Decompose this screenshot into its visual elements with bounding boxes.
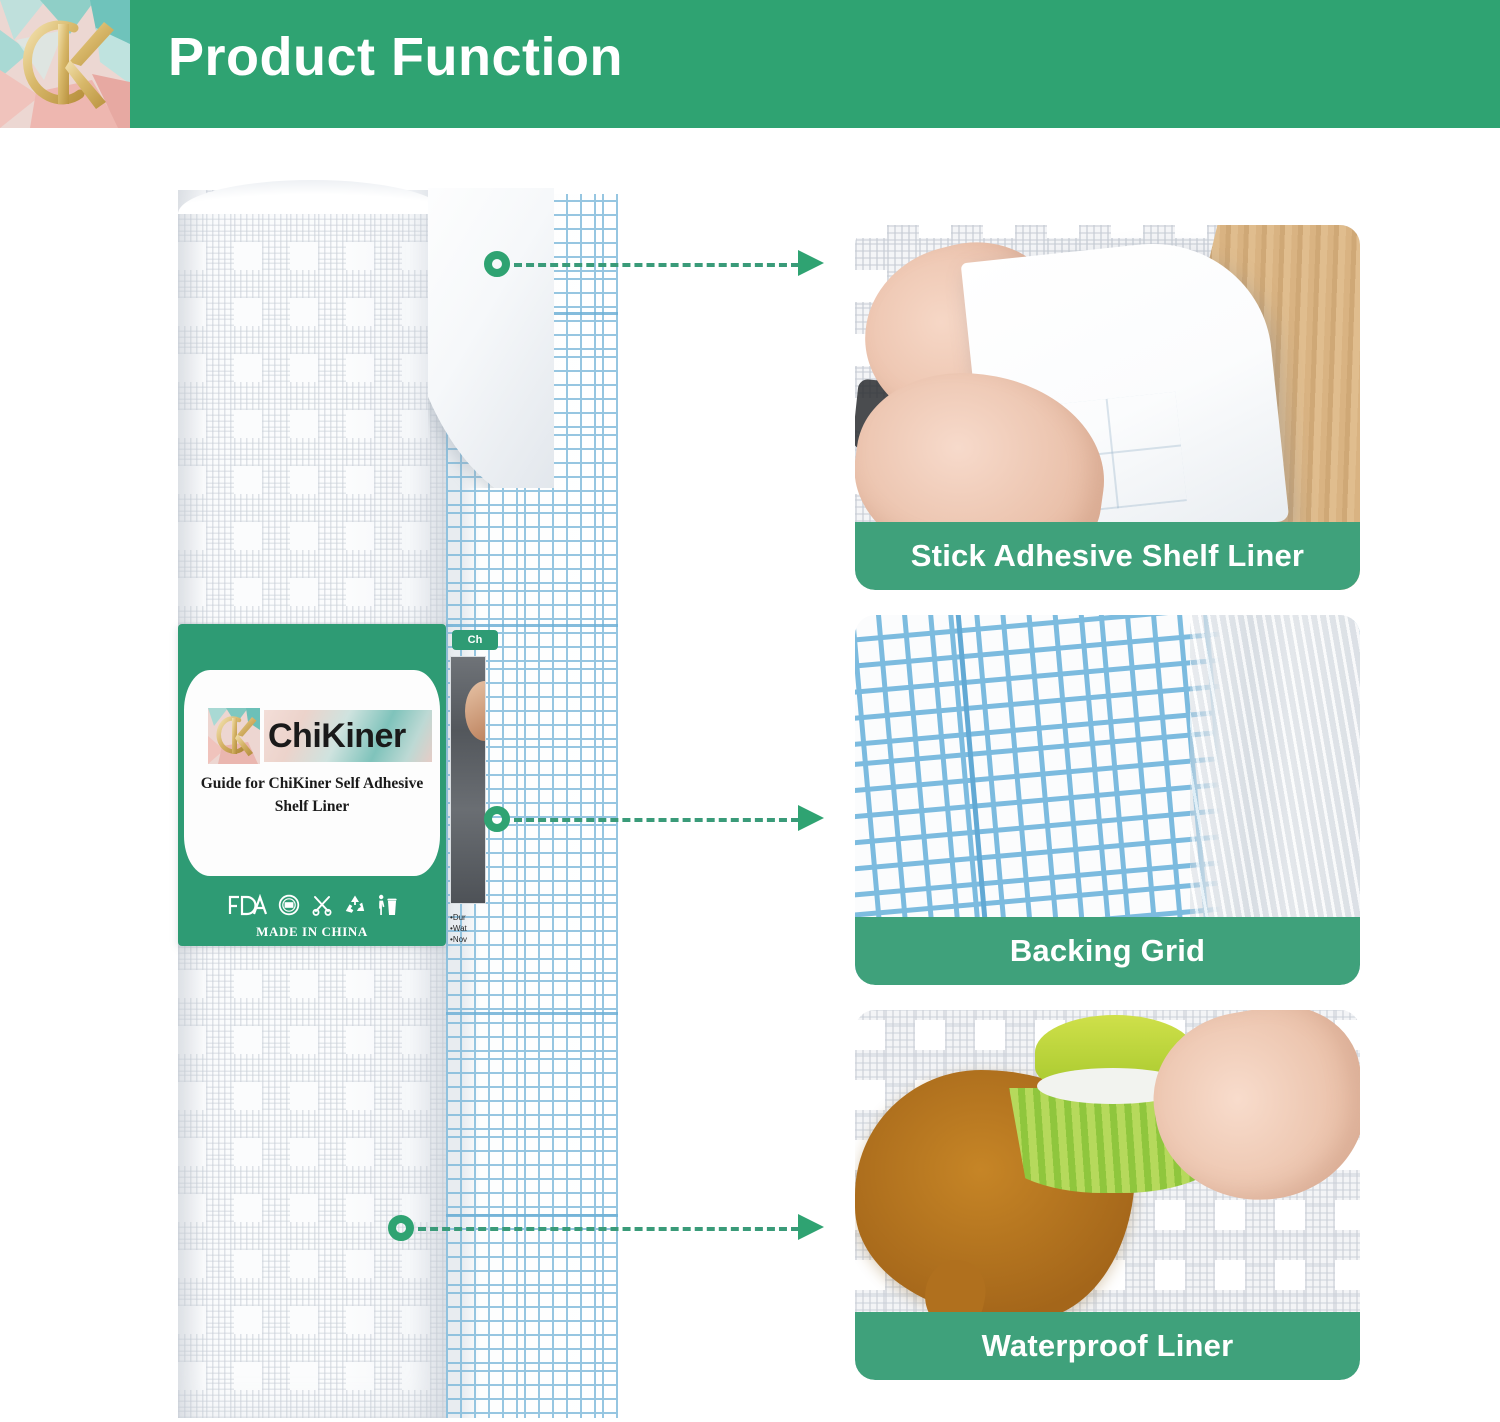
label-origin: MADE IN CHINA (178, 924, 446, 940)
arrow-right-icon (798, 250, 824, 276)
label-subtitle-line1: Guide for ChiKiner Self Adhesive (192, 772, 432, 795)
feature-card-waterproof[interactable]: Waterproof Liner (855, 1010, 1360, 1380)
roll-top-edge (178, 180, 446, 214)
connector-to-waterproof (388, 1207, 834, 1247)
secondary-label-photo (450, 656, 486, 904)
dashed-line (514, 818, 799, 822)
dashed-line (418, 1227, 799, 1231)
feature-card-stick-adhesive[interactable]: Stick Adhesive Shelf Liner (855, 225, 1360, 590)
label-subtitle: Guide for ChiKiner Self Adhesive Shelf L… (192, 772, 432, 818)
feature-caption-text: Backing Grid (1010, 933, 1205, 969)
bullet-item: Nov (450, 934, 506, 945)
dispose-in-bin-icon (377, 894, 397, 916)
product-label: ChiKiner Guide for ChiKiner Self Adhesiv… (178, 624, 446, 946)
page-header: Product Function (0, 0, 1500, 128)
secondary-label-strip: Ch Dur Wat Nov (446, 624, 506, 946)
page-title: Product Function (168, 26, 623, 88)
label-brand-lockup: ChiKiner (208, 708, 432, 764)
bullet-item: Wat (450, 923, 506, 934)
bullet-item: Dur (450, 912, 506, 923)
feature-caption: Waterproof Liner (855, 1312, 1360, 1380)
ring-marker (484, 251, 510, 277)
secondary-label-bullets: Dur Wat Nov (450, 912, 506, 945)
secondary-label-chip: Ch (452, 630, 498, 650)
label-subtitle-line2: Shelf Liner (192, 795, 432, 818)
arrow-right-icon (798, 1214, 824, 1240)
arrow-right-icon (798, 805, 824, 831)
feature-caption-text: Stick Adhesive Shelf Liner (911, 538, 1304, 574)
feature-caption: Backing Grid (855, 917, 1360, 985)
feature-caption: Stick Adhesive Shelf Liner (855, 522, 1360, 590)
brand-logo-icon (0, 0, 130, 128)
ck-monogram-icon (208, 708, 260, 764)
connector-to-backing-grid (484, 798, 834, 838)
connector-to-stick-adhesive (484, 243, 834, 283)
certification-icon-row (194, 888, 430, 922)
bpa-free-icon (278, 894, 300, 916)
grid-solid-line (446, 1012, 618, 1015)
feature-card-backing-grid[interactable]: Backing Grid (855, 615, 1360, 985)
recycle-icon (344, 894, 366, 916)
brand-name: ChiKiner (268, 711, 432, 761)
scissors-cuttable-icon (311, 894, 333, 916)
ring-marker (484, 806, 510, 832)
peeled-corner-flap (428, 188, 554, 488)
feature-caption-text: Waterproof Liner (982, 1328, 1234, 1364)
fda-icon (227, 894, 267, 916)
dashed-line (514, 263, 799, 267)
ring-marker (388, 1215, 414, 1241)
label-wordmark: ChiKiner (264, 710, 432, 762)
